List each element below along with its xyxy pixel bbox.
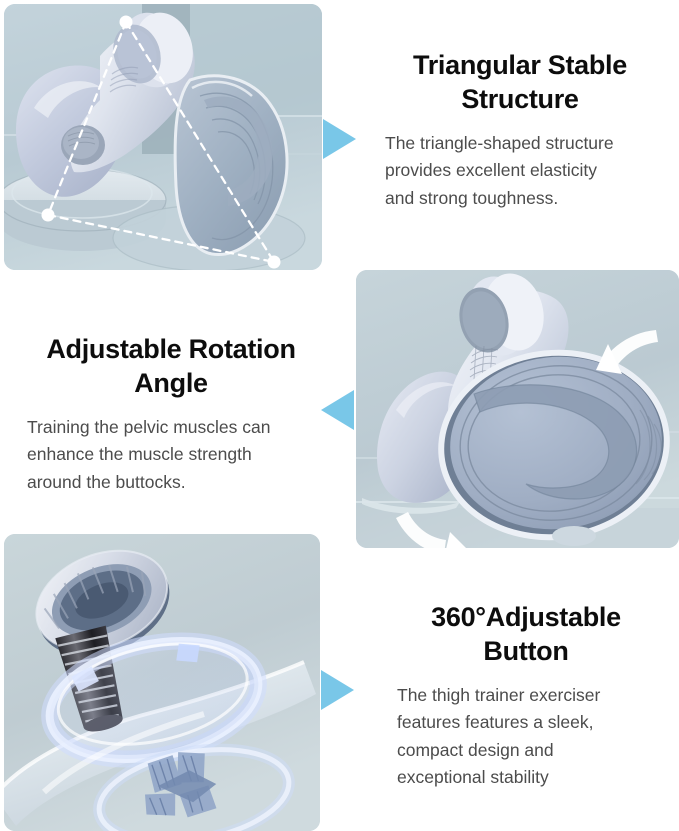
- feature-title-2: Adjustable Rotation Angle: [14, 332, 328, 400]
- product-photo-rotation-angle: [356, 270, 679, 548]
- flow-arrow-right-1: [323, 119, 356, 159]
- feature-title-3-line-2: Button: [483, 636, 568, 666]
- feature-body-3-line-2: features features a sleek,: [397, 712, 594, 732]
- feature-image-panel-2: [356, 270, 679, 548]
- feature-title-1: Triangular Stable Structure: [372, 48, 668, 116]
- feature-title-3: 360°Adjustable Button: [384, 600, 668, 668]
- product-photo-adjustable-knob-exploded: [4, 534, 320, 831]
- feature-title-1-line-1: Triangular Stable: [413, 50, 627, 80]
- flow-arrow-left-2: [321, 390, 354, 430]
- feature-body-1: The triangle-shaped structure provides e…: [372, 130, 668, 212]
- feature-body-3-line-3: compact design and: [397, 740, 554, 760]
- feature-image-panel-1: [4, 4, 322, 270]
- product-photo-triangular-structure: [4, 4, 322, 270]
- feature-body-1-line-1: The triangle-shaped structure: [385, 133, 614, 153]
- feature-body-2-line-1: Training the pelvic muscles can: [27, 417, 271, 437]
- feature-body-3-line-1: The thigh trainer exerciser: [397, 685, 600, 705]
- feature-body-2-line-3: around the buttocks.: [27, 472, 186, 492]
- feature-body-3-line-4: exceptional stability: [397, 767, 549, 787]
- feature-image-panel-3: [4, 534, 320, 831]
- feature-title-2-line-2: Angle: [134, 368, 208, 398]
- feature-body-3: The thigh trainer exerciser features fea…: [384, 682, 668, 792]
- feature-body-2-line-2: enhance the muscle strength: [27, 444, 252, 464]
- feature-text-block-3: 360°Adjustable Button The thigh trainer …: [384, 600, 668, 792]
- feature-text-block-2: Adjustable Rotation Angle Training the p…: [14, 332, 328, 496]
- feature-body-1-line-2: provides excellent elasticity: [385, 160, 597, 180]
- feature-body-1-line-3: and strong toughness.: [385, 188, 558, 208]
- feature-title-2-line-1: Adjustable Rotation: [46, 334, 295, 364]
- feature-text-block-1: Triangular Stable Structure The triangle…: [372, 48, 668, 212]
- flow-arrow-right-3: [321, 670, 354, 710]
- feature-title-3-line-1: 360°Adjustable: [431, 602, 621, 632]
- feature-body-2: Training the pelvic muscles can enhance …: [14, 414, 328, 496]
- feature-title-1-line-2: Structure: [461, 84, 578, 114]
